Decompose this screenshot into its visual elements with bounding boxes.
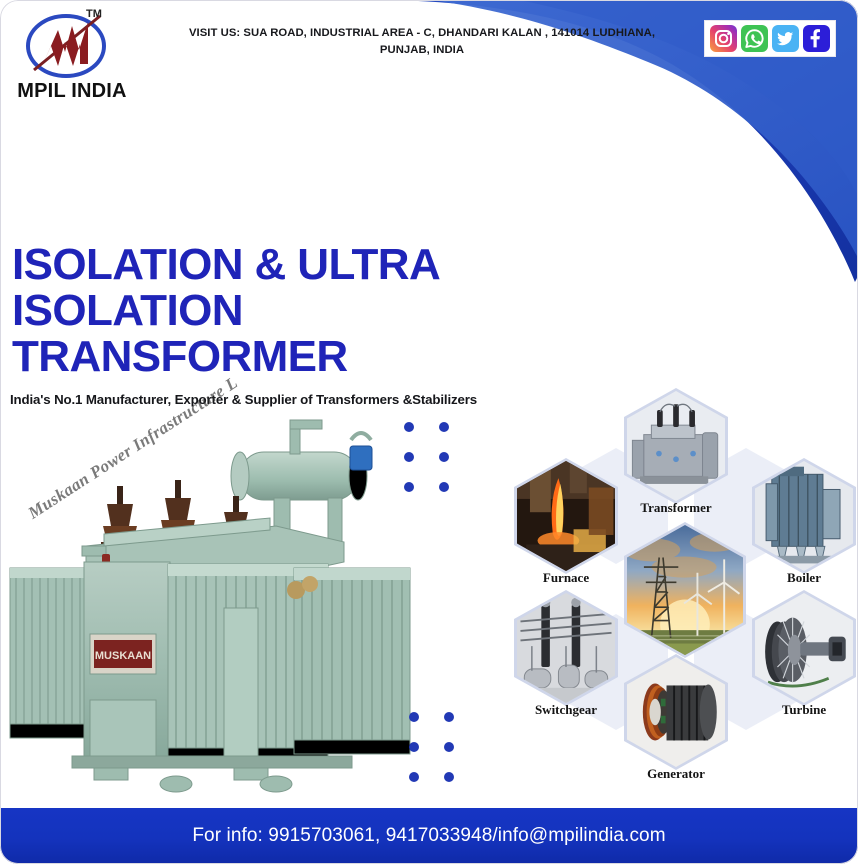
dot-grid-bottom-decoration — [409, 712, 454, 782]
dot — [439, 422, 449, 432]
trademark-symbol: TM — [86, 8, 102, 20]
dot — [404, 422, 414, 432]
facebook-icon[interactable] — [803, 25, 830, 52]
hero-title-line-2: ISOLATION — [12, 288, 440, 334]
mpil-lightning-logo-icon — [18, 8, 118, 80]
hex-switchgear[interactable]: Switchgear — [514, 590, 618, 706]
footer-contact-text[interactable]: For info: 9915703061, 9417033948/info@mp… — [192, 825, 665, 847]
poster-canvas: MPIL INDIA TM VISIT US: SUA ROAD, INDUST… — [0, 0, 858, 864]
hero-title-line-3: TRANSFORMER — [12, 334, 440, 380]
address-line-2: PUNJAB, INDIA — [172, 42, 672, 59]
brand-logo-text: MPIL INDIA — [8, 80, 136, 103]
dot — [444, 712, 454, 722]
hero-subtitle: India's No.1 Manufacturer, Exporter & Su… — [10, 392, 477, 407]
address-block: VISIT US: SUA ROAD, INDUSTRIAL AREA - C,… — [172, 25, 672, 59]
hex-turbine[interactable]: Turbine — [752, 590, 856, 706]
twitter-icon[interactable] — [772, 25, 799, 52]
svg-text:MUSKAAN: MUSKAAN — [95, 650, 151, 662]
hex-label-furnace: Furnace — [543, 570, 589, 586]
hex-label-turbine: Turbine — [782, 702, 826, 718]
instagram-icon[interactable] — [710, 25, 737, 52]
dot — [439, 482, 449, 492]
hex-power-grid-center[interactable] — [624, 522, 746, 658]
dot — [444, 742, 454, 752]
social-links-bar — [704, 20, 836, 57]
whatsapp-icon[interactable] — [741, 25, 768, 52]
applications-hex-cluster: Transformer — [498, 382, 858, 800]
hero-title: ISOLATION & ULTRA ISOLATION TRANSFORMER — [12, 242, 440, 380]
footer-contact-bar: For info: 9915703061, 9417033948/info@mp… — [0, 808, 858, 864]
hex-transformer[interactable]: Transformer — [624, 388, 728, 504]
dot — [409, 712, 419, 722]
hex-generator[interactable]: Generator — [624, 654, 728, 770]
hero-title-line-1: ISOLATION & ULTRA — [12, 242, 440, 288]
dot — [409, 772, 419, 782]
brand-logo[interactable]: MPIL INDIA TM — [8, 8, 136, 112]
dot — [409, 742, 419, 752]
hex-label-switchgear: Switchgear — [535, 702, 597, 718]
poster-header: MPIL INDIA TM VISIT US: SUA ROAD, INDUST… — [0, 0, 858, 120]
address-line-1: VISIT US: SUA ROAD, INDUSTRIAL AREA - C,… — [172, 25, 672, 42]
dot — [444, 772, 454, 782]
dot — [439, 452, 449, 462]
hex-label-boiler: Boiler — [787, 570, 821, 586]
dot — [404, 482, 414, 492]
hex-furnace[interactable]: Furnace — [514, 458, 618, 574]
dot — [404, 452, 414, 462]
hex-label-generator: Generator — [647, 766, 705, 782]
product-transformer-image: MUSKAAN — [8, 418, 412, 800]
hex-label-transformer: Transformer — [640, 500, 711, 516]
dot-grid-top-decoration — [404, 422, 449, 492]
hex-boiler[interactable]: Boiler — [752, 458, 856, 574]
